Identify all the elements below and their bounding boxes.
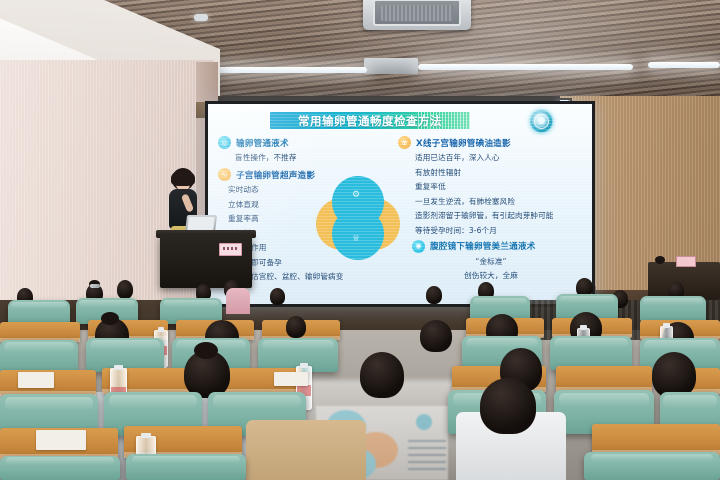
audience-seat (0, 340, 78, 374)
audience-torso (226, 288, 250, 314)
audience-seat (550, 336, 632, 370)
reflection-emblem (416, 414, 432, 430)
presenter-hair-front (171, 170, 195, 186)
audience-desk (0, 322, 80, 342)
projection-screen-frame (205, 101, 595, 307)
audience-head (426, 286, 442, 304)
side-table-card (676, 256, 696, 267)
reflection-text-lines (408, 440, 446, 470)
audience-hair-bun (101, 312, 119, 325)
ceiling-ac-unit (363, 0, 471, 30)
audience-head (270, 288, 285, 305)
ceiling-spotlight (194, 14, 208, 21)
audience-hair-bun (194, 342, 218, 359)
audience-torso (246, 420, 366, 480)
side-table (648, 262, 720, 300)
laptop-screen (187, 217, 215, 232)
bottle-cap (114, 365, 122, 370)
ceiling-light-strip-3 (648, 62, 720, 68)
lecture-hall-photo: 常用输卵管通畅度检查方法 ◎ 输卵管通液术 盲性操作，不推荐 ∿ 子宫输卵管超声… (0, 0, 720, 480)
audience-desk (556, 366, 652, 392)
handout-paper (274, 372, 308, 386)
hair-clip (90, 284, 100, 288)
audience-head (286, 316, 306, 338)
audience-seat (86, 338, 164, 372)
bottle-cap (580, 325, 586, 330)
podium-name-card (219, 243, 242, 256)
ac-inner-panel (373, 0, 461, 26)
audience-head (360, 352, 404, 398)
side-table-object (655, 256, 665, 264)
handout-paper (18, 372, 54, 388)
bottle-cap (141, 433, 151, 438)
ceiling-light-strip-2 (418, 64, 633, 70)
audience-seat (126, 454, 246, 480)
ceiling-junction-box (364, 58, 418, 74)
audience-head (480, 378, 536, 434)
bottle-cap (158, 327, 165, 332)
audience-seat (640, 296, 706, 322)
handout-paper (36, 430, 86, 450)
ac-vent (381, 5, 453, 21)
audience-head (117, 280, 133, 299)
audience-seat (0, 456, 120, 480)
name-card-text (223, 247, 238, 250)
audience-head (420, 320, 452, 352)
audience-seat (584, 452, 720, 480)
bottle-cap (300, 363, 308, 368)
bottle-cap (663, 323, 669, 328)
